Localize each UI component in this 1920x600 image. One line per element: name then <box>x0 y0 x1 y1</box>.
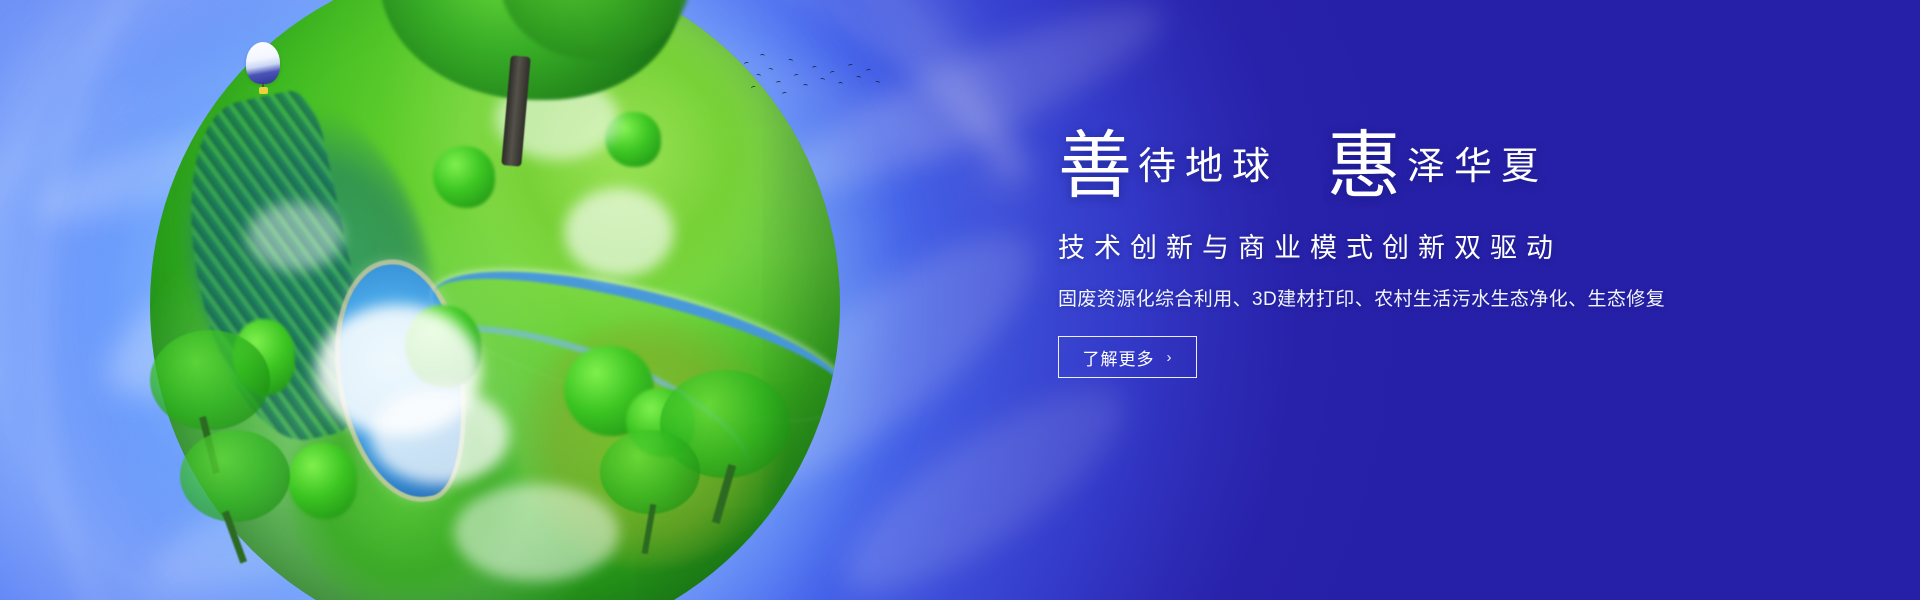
page-title: 善 待地球 惠 泽华夏 <box>1058 132 1818 200</box>
tree-icon <box>288 443 357 519</box>
hero-content: 善 待地球 惠 泽华夏 技术创新与商业模式创新双驱动 固废资源化综合利用、3D建… <box>1058 132 1818 378</box>
headline-char-1: 善 <box>1058 132 1132 200</box>
cloud-icon <box>371 388 509 485</box>
hero-banner: 善 待地球 惠 泽华夏 技术创新与商业模式创新双驱动 固废资源化综合利用、3D建… <box>0 0 1920 600</box>
balloon-basket <box>259 87 268 94</box>
learn-more-button[interactable]: 了解更多 › <box>1058 336 1197 378</box>
headline-text-1: 待地球 <box>1132 141 1279 200</box>
hero-tree-image <box>380 0 680 160</box>
headline-text-2: 泽华夏 <box>1401 141 1548 200</box>
chevron-right-icon: › <box>1167 350 1173 365</box>
cloud-icon <box>454 484 620 581</box>
cloud-icon <box>247 202 344 271</box>
headline-char-2: 惠 <box>1327 132 1401 200</box>
birds-flock-icon <box>742 48 892 106</box>
hero-description: 固废资源化综合利用、3D建材打印、农村生活污水生态净化、生态修复 <box>1058 284 1818 311</box>
balloon-envelope <box>246 42 280 84</box>
cloud-icon <box>564 188 674 278</box>
tree-icon <box>180 430 290 570</box>
tree-icon <box>600 430 700 560</box>
hero-subtitle: 技术创新与商业模式创新双驱动 <box>1058 226 1818 265</box>
learn-more-label: 了解更多 <box>1083 345 1155 370</box>
hot-air-balloon-icon <box>246 42 280 94</box>
